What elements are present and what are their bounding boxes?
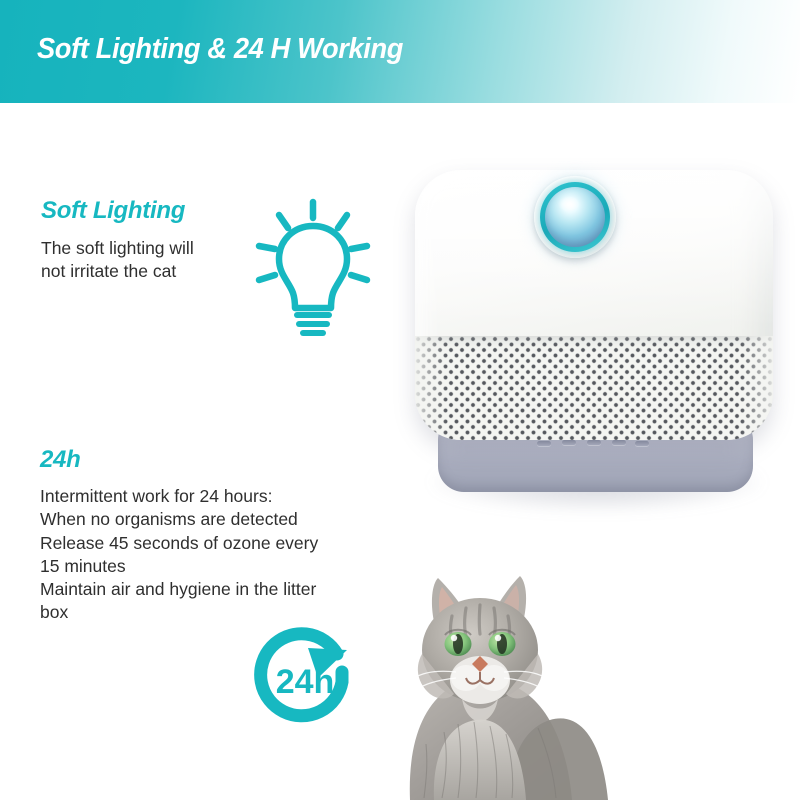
feature-block-24h: 24h Intermittent work for 24 hours: When… — [40, 446, 318, 625]
feature-heading-24h: 24h — [40, 446, 318, 474]
cat-eye-highlight-left — [451, 635, 457, 641]
feature-heading-soft-lighting: Soft Lighting — [41, 197, 194, 225]
feature-body-soft-lighting: The soft lighting will not irritate the … — [41, 237, 194, 284]
ozone-air-purifier-device — [396, 152, 796, 542]
cat-photo — [404, 572, 664, 800]
page-title: Soft Lighting & 24 H Working — [37, 33, 403, 66]
header-banner: Soft Lighting & 24 H Working — [0, 0, 800, 103]
vent-panel-edge-fade — [415, 336, 773, 440]
feature-block-soft-lighting: Soft Lighting The soft lighting will not… — [41, 197, 194, 284]
24h-cycle-icon: 24h — [246, 620, 364, 743]
cat-eye-highlight-right — [495, 635, 501, 641]
power-button-specular-highlight — [558, 196, 580, 212]
power-indicator-button[interactable] — [545, 187, 605, 247]
lightbulb-icon — [253, 196, 373, 346]
feature-body-24h: Intermittent work for 24 hours: When no … — [40, 485, 318, 625]
24h-icon-label: 24h — [276, 663, 335, 701]
